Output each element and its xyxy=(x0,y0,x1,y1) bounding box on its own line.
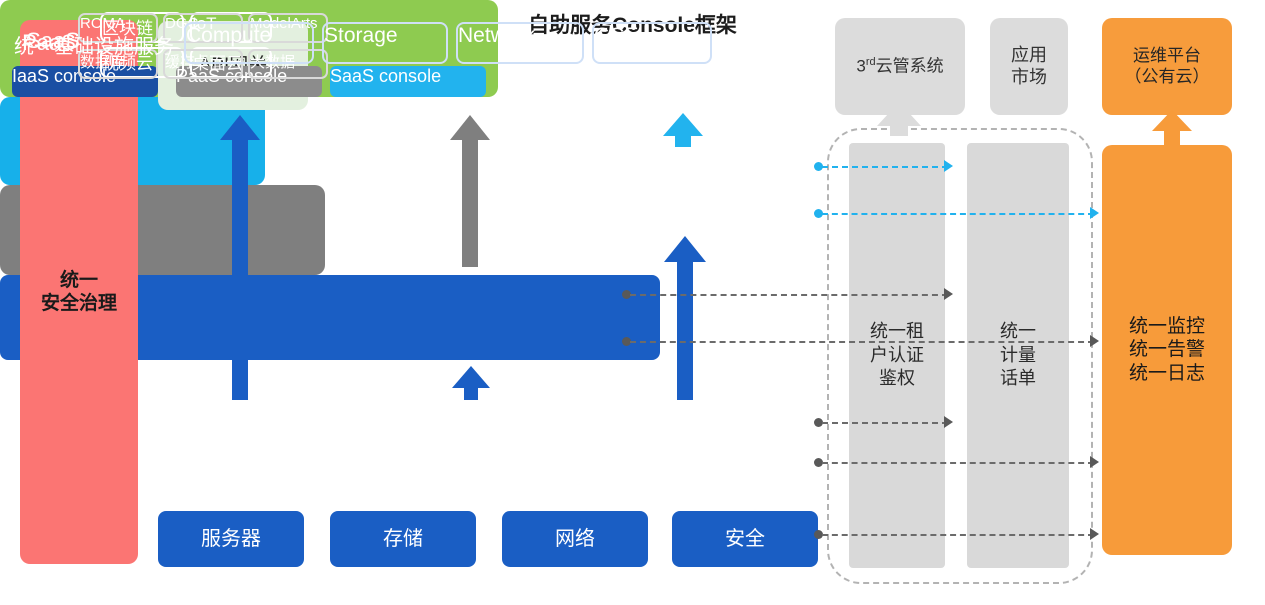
ops-platform-label-stack: 运维平台 （公有云） xyxy=(1125,46,1210,87)
iaas-item-compute[interactable]: Compute xyxy=(184,22,314,64)
auth-line2: 户认证 xyxy=(870,344,924,367)
app-market-label-stack: 应用 市场 xyxy=(1011,45,1047,89)
saas-console-button[interactable]: SaaS console xyxy=(330,66,486,97)
third-party-rest: 云管系统 xyxy=(876,56,944,75)
dashed-line-paas-to-ops xyxy=(630,341,1094,343)
meter-label-stack: 统一 计量 话单 xyxy=(1000,320,1036,390)
dashed-line-hardware-to-ops xyxy=(822,534,1094,536)
app-market-line2: 市场 xyxy=(1011,67,1047,89)
hardware-server-box[interactable]: 服务器 xyxy=(158,511,304,567)
hardware-storage-box[interactable]: 存储 xyxy=(330,511,476,567)
dashed-line-saas-to-auth xyxy=(822,166,948,168)
arrow-iaas-to-paas xyxy=(452,366,490,400)
unified-metering-billing-column[interactable]: 统一 计量 话单 xyxy=(967,143,1069,568)
security-label-line2: 安全治理 xyxy=(41,292,117,315)
auth-label-stack: 统一租 户认证 鉴权 xyxy=(870,320,924,390)
arrowhead-paas-to-auth xyxy=(944,288,953,300)
unified-monitor-line: 统一监控 xyxy=(1129,315,1205,338)
unified-security-governance-panel[interactable]: 统一 安全治理 xyxy=(20,20,138,564)
meter-line2: 计量 xyxy=(1000,344,1036,367)
hardware-network-box[interactable]: 网络 xyxy=(502,511,648,567)
arrowhead-saas-to-auth xyxy=(944,160,953,172)
dashed-line-iaas-to-ops xyxy=(822,462,1094,464)
arrow-saas-to-saas-console xyxy=(663,113,703,147)
iaas-layer-label: 统一基础设施服务 xyxy=(14,30,174,59)
dashed-line-paas-to-auth xyxy=(630,294,948,296)
ops-main-label-stack: 统一监控 统一告警 统一日志 xyxy=(1129,315,1205,385)
arrow-paas-to-console xyxy=(450,115,490,267)
app-market-line1: 应用 xyxy=(1011,45,1047,67)
unified-log-line: 统一日志 xyxy=(1129,362,1205,385)
arrowhead-paas-to-ops xyxy=(1090,335,1099,347)
arrow-iaas-to-saas xyxy=(664,236,706,400)
third-party-sup: rd xyxy=(866,56,876,68)
meter-line3: 话单 xyxy=(1000,367,1036,390)
dashed-line-iaas-to-auth xyxy=(822,422,948,424)
dashed-line-saas-to-ops xyxy=(822,213,1094,215)
unified-monitoring-panel[interactable]: 统一监控 统一告警 统一日志 xyxy=(1102,145,1232,555)
hardware-security-box[interactable]: 安全 xyxy=(672,511,818,567)
iaas-item-network[interactable]: Network xyxy=(456,22,584,64)
arrowhead-iaas-to-auth xyxy=(944,416,953,428)
security-label-stack: 统一 安全治理 xyxy=(41,269,117,315)
security-label-line1: 统一 xyxy=(41,269,117,292)
arrow-ops-main-to-ops-top xyxy=(1152,110,1192,147)
auth-line3: 鉴权 xyxy=(870,367,924,390)
iaas-item-storage[interactable]: Storage xyxy=(322,22,448,64)
architecture-diagram: 统一 安全治理 API网关 自助服务Console框架 IaaS console… xyxy=(0,0,1265,605)
unified-alarm-line: 统一告警 xyxy=(1129,338,1205,361)
ops-platform-line2: （公有云） xyxy=(1125,67,1210,88)
iaas-item-cce[interactable]: CCE xyxy=(592,22,712,64)
arrowhead-iaas-to-ops xyxy=(1090,456,1099,468)
ops-platform-line1: 运维平台 xyxy=(1125,46,1210,67)
third-party-cloud-management-box[interactable]: 3rd云管系统 xyxy=(835,18,965,115)
app-market-box[interactable]: 应用 市场 xyxy=(990,18,1068,115)
third-party-prefix: 3 xyxy=(856,56,865,75)
third-party-label: 3rd云管系统 xyxy=(856,56,943,77)
unified-tenant-auth-column[interactable]: 统一租 户认证 鉴权 xyxy=(849,143,945,568)
arrowhead-saas-to-ops xyxy=(1090,207,1099,219)
ops-platform-public-cloud-box[interactable]: 运维平台 （公有云） xyxy=(1102,18,1232,115)
arrowhead-hardware-to-ops xyxy=(1090,528,1099,540)
